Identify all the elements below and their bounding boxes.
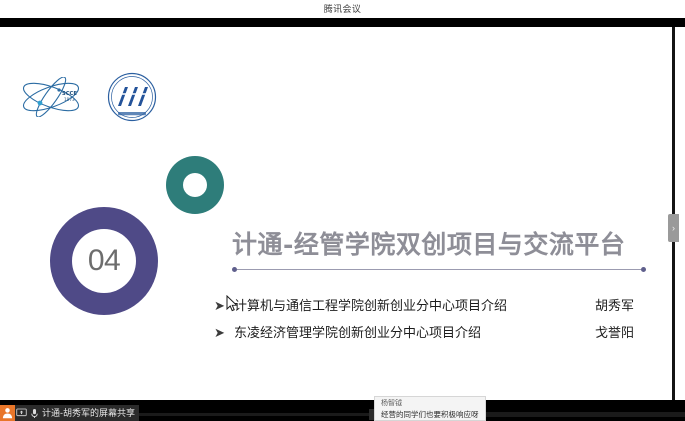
section-number-disc: 04 xyxy=(72,229,136,293)
chevron-right-icon: › xyxy=(672,224,675,233)
share-indicator-label: 计通-胡秀军的屏幕共享 xyxy=(41,405,135,421)
bullet-arrow-icon: ➤ xyxy=(214,300,234,313)
bottom-right-rule xyxy=(486,412,685,417)
monitor-share-icon xyxy=(15,405,28,421)
list-item: ➤ 东凌经济管理学院创新创业分中心项目介绍 戈誉阳 xyxy=(214,322,654,349)
bullet-text: 计算机与通信工程学院创新创业分中心项目介绍 xyxy=(234,295,507,314)
list-item: ➤ 计算机与通信工程学院创新创业分中心项目介绍 胡秀军 xyxy=(214,295,654,322)
microphone-icon xyxy=(28,405,41,421)
side-panel-expand-button[interactable]: › xyxy=(668,214,679,242)
slide-bullet-list: ➤ 计算机与通信工程学院创新创业分中心项目介绍 胡秀军 ➤ 东凌经济管理学院创新… xyxy=(214,295,654,349)
chat-sender-name: 杨智钺 xyxy=(381,399,480,409)
scce-atom-logo: SCCE 1973 xyxy=(20,77,82,117)
screen-share-indicator[interactable]: 计通-胡秀军的屏幕共享 xyxy=(0,405,139,421)
chat-message-text: 经营的同学们也要积极响应呀 xyxy=(381,409,480,420)
bullet-presenter: 胡秀军 xyxy=(595,295,654,314)
title-underline-rule xyxy=(232,267,646,272)
chat-message-toast[interactable]: 杨智钺 经营的同学们也要积极响应呀 xyxy=(374,396,486,421)
slide-title: 计通-经管学院双创项目与交流平台 xyxy=(232,225,652,261)
slide-logo-row: SCCE 1973 xyxy=(20,72,158,122)
section-number-badge: 04 xyxy=(50,207,158,315)
window-title: 腾讯会议 xyxy=(324,0,362,18)
window-titlebar: 腾讯会议 xyxy=(0,0,685,18)
tencent-meeting-window: 腾讯会议 SCCE 1973 xyxy=(0,0,685,421)
rule-line xyxy=(237,269,641,270)
university-seal-logo xyxy=(106,72,158,122)
rule-dot-right xyxy=(641,267,646,272)
section-number-text: 04 xyxy=(88,244,120,278)
bullet-text: 东凌经济管理学院创新创业分中心项目介绍 xyxy=(234,322,481,341)
svg-text:1973: 1973 xyxy=(64,97,75,102)
bullet-arrow-icon: ➤ xyxy=(214,327,234,340)
top-letterbox-bar xyxy=(0,18,685,27)
bullet-presenter: 戈誉阳 xyxy=(595,322,654,341)
decorative-teal-ring xyxy=(166,156,224,214)
shared-screen-viewport[interactable]: SCCE 1973 xyxy=(0,27,672,400)
person-icon xyxy=(0,405,15,421)
